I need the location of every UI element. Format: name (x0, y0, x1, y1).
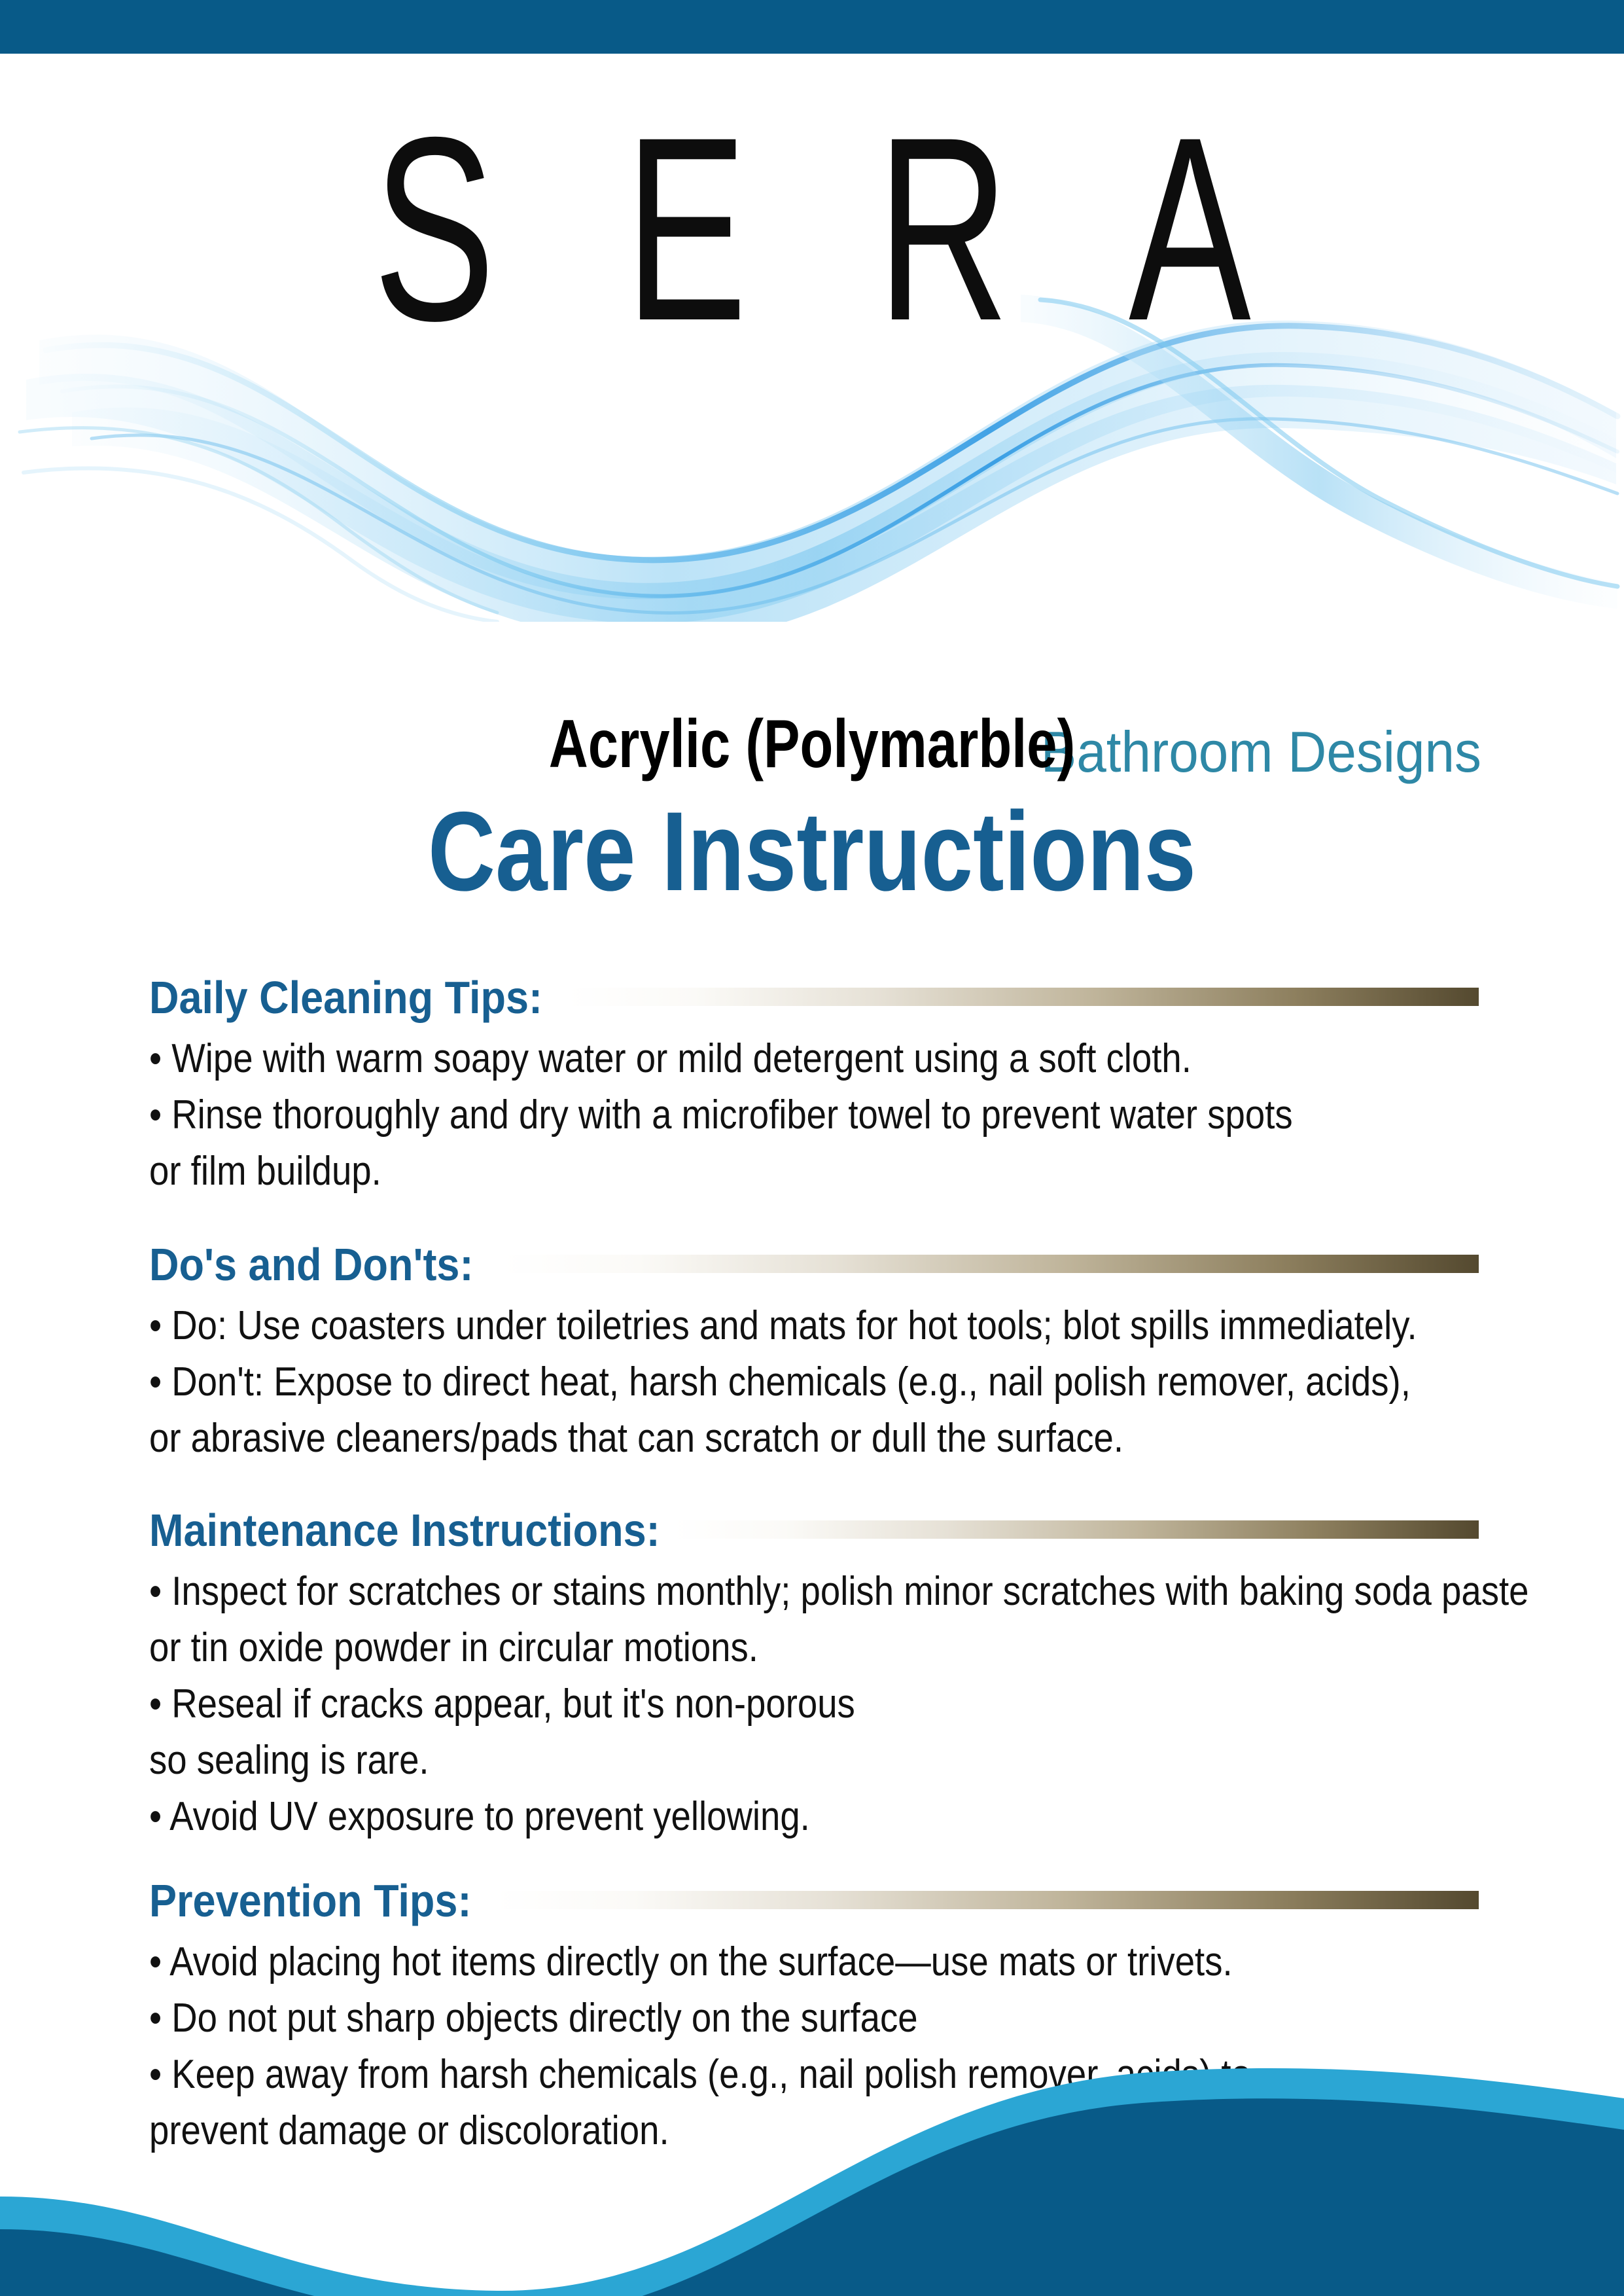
section-divider-rule (673, 1520, 1479, 1539)
footer-wave-graphic (0, 2021, 1624, 2296)
section-body: • Do: Use coasters under toiletries and … (149, 1298, 1479, 1467)
bullet-line: • Avoid placing hot items directly on th… (149, 1934, 1319, 1990)
section-heading-row: Do's and Don'ts: (149, 1240, 1479, 1289)
brand-logo-block: S E R A (0, 98, 1624, 687)
bullet-line: or film buildup. (149, 1143, 1319, 1200)
bullet-line: • Rinse thoroughly and dry with a microf… (149, 1087, 1319, 1143)
section-dos-and-donts: Do's and Don'ts: • Do: Use coasters unde… (149, 1240, 1479, 1467)
section-heading: Daily Cleaning Tips: (149, 975, 542, 1020)
content-sections: Daily Cleaning Tips: • Wipe with warm so… (149, 973, 1479, 2166)
section-body: • Inspect for scratches or stains monthl… (149, 1564, 1479, 1845)
bullet-line: or tin oxide powder in circular motions. (149, 1620, 1319, 1676)
section-maintenance-instructions: Maintenance Instructions: • Inspect for … (149, 1506, 1479, 1845)
section-spacer (149, 1473, 1479, 1506)
section-heading-row: Maintenance Instructions: (149, 1506, 1479, 1554)
section-divider-rule (496, 1891, 1479, 1909)
bullet-line: so sealing is rare. (149, 1732, 1319, 1789)
page-subtitle: Acrylic (Polymarble) (162, 710, 1462, 778)
section-divider-rule (568, 988, 1479, 1006)
section-divider-rule (503, 1255, 1479, 1273)
bullet-line: • Wipe with warm soapy water or mild det… (149, 1031, 1319, 1087)
section-spacer (149, 1852, 1479, 1876)
bullet-line: or abrasive cleaners/pads that can scrat… (149, 1410, 1319, 1467)
bullet-line: • Don't: Expose to direct heat, harsh ch… (149, 1354, 1319, 1410)
section-heading: Maintenance Instructions: (149, 1507, 660, 1553)
section-heading: Prevention Tips: (149, 1878, 471, 1924)
bullet-line: • Avoid UV exposure to prevent yellowing… (149, 1789, 1319, 1845)
top-accent-bar (0, 0, 1624, 54)
bullet-line: • Inspect for scratches or stains monthl… (149, 1564, 1319, 1620)
bullet-line: • Reseal if cracks appear, but it's non-… (149, 1676, 1319, 1732)
section-spacer (149, 1206, 1479, 1240)
care-instructions-page: S E R A (0, 0, 1624, 2296)
section-body: • Wipe with warm soapy water or mild det… (149, 1031, 1479, 1200)
page-title: Care Instructions (138, 795, 1486, 908)
brand-wordmark: S E R A (243, 98, 1380, 360)
section-daily-cleaning-tips: Daily Cleaning Tips: • Wipe with warm so… (149, 973, 1479, 1200)
section-heading: Do's and Don'ts: (149, 1242, 473, 1287)
section-heading-row: Daily Cleaning Tips: (149, 973, 1479, 1022)
section-heading-row: Prevention Tips: (149, 1876, 1479, 1925)
bullet-line: • Do: Use coasters under toiletries and … (149, 1298, 1319, 1354)
